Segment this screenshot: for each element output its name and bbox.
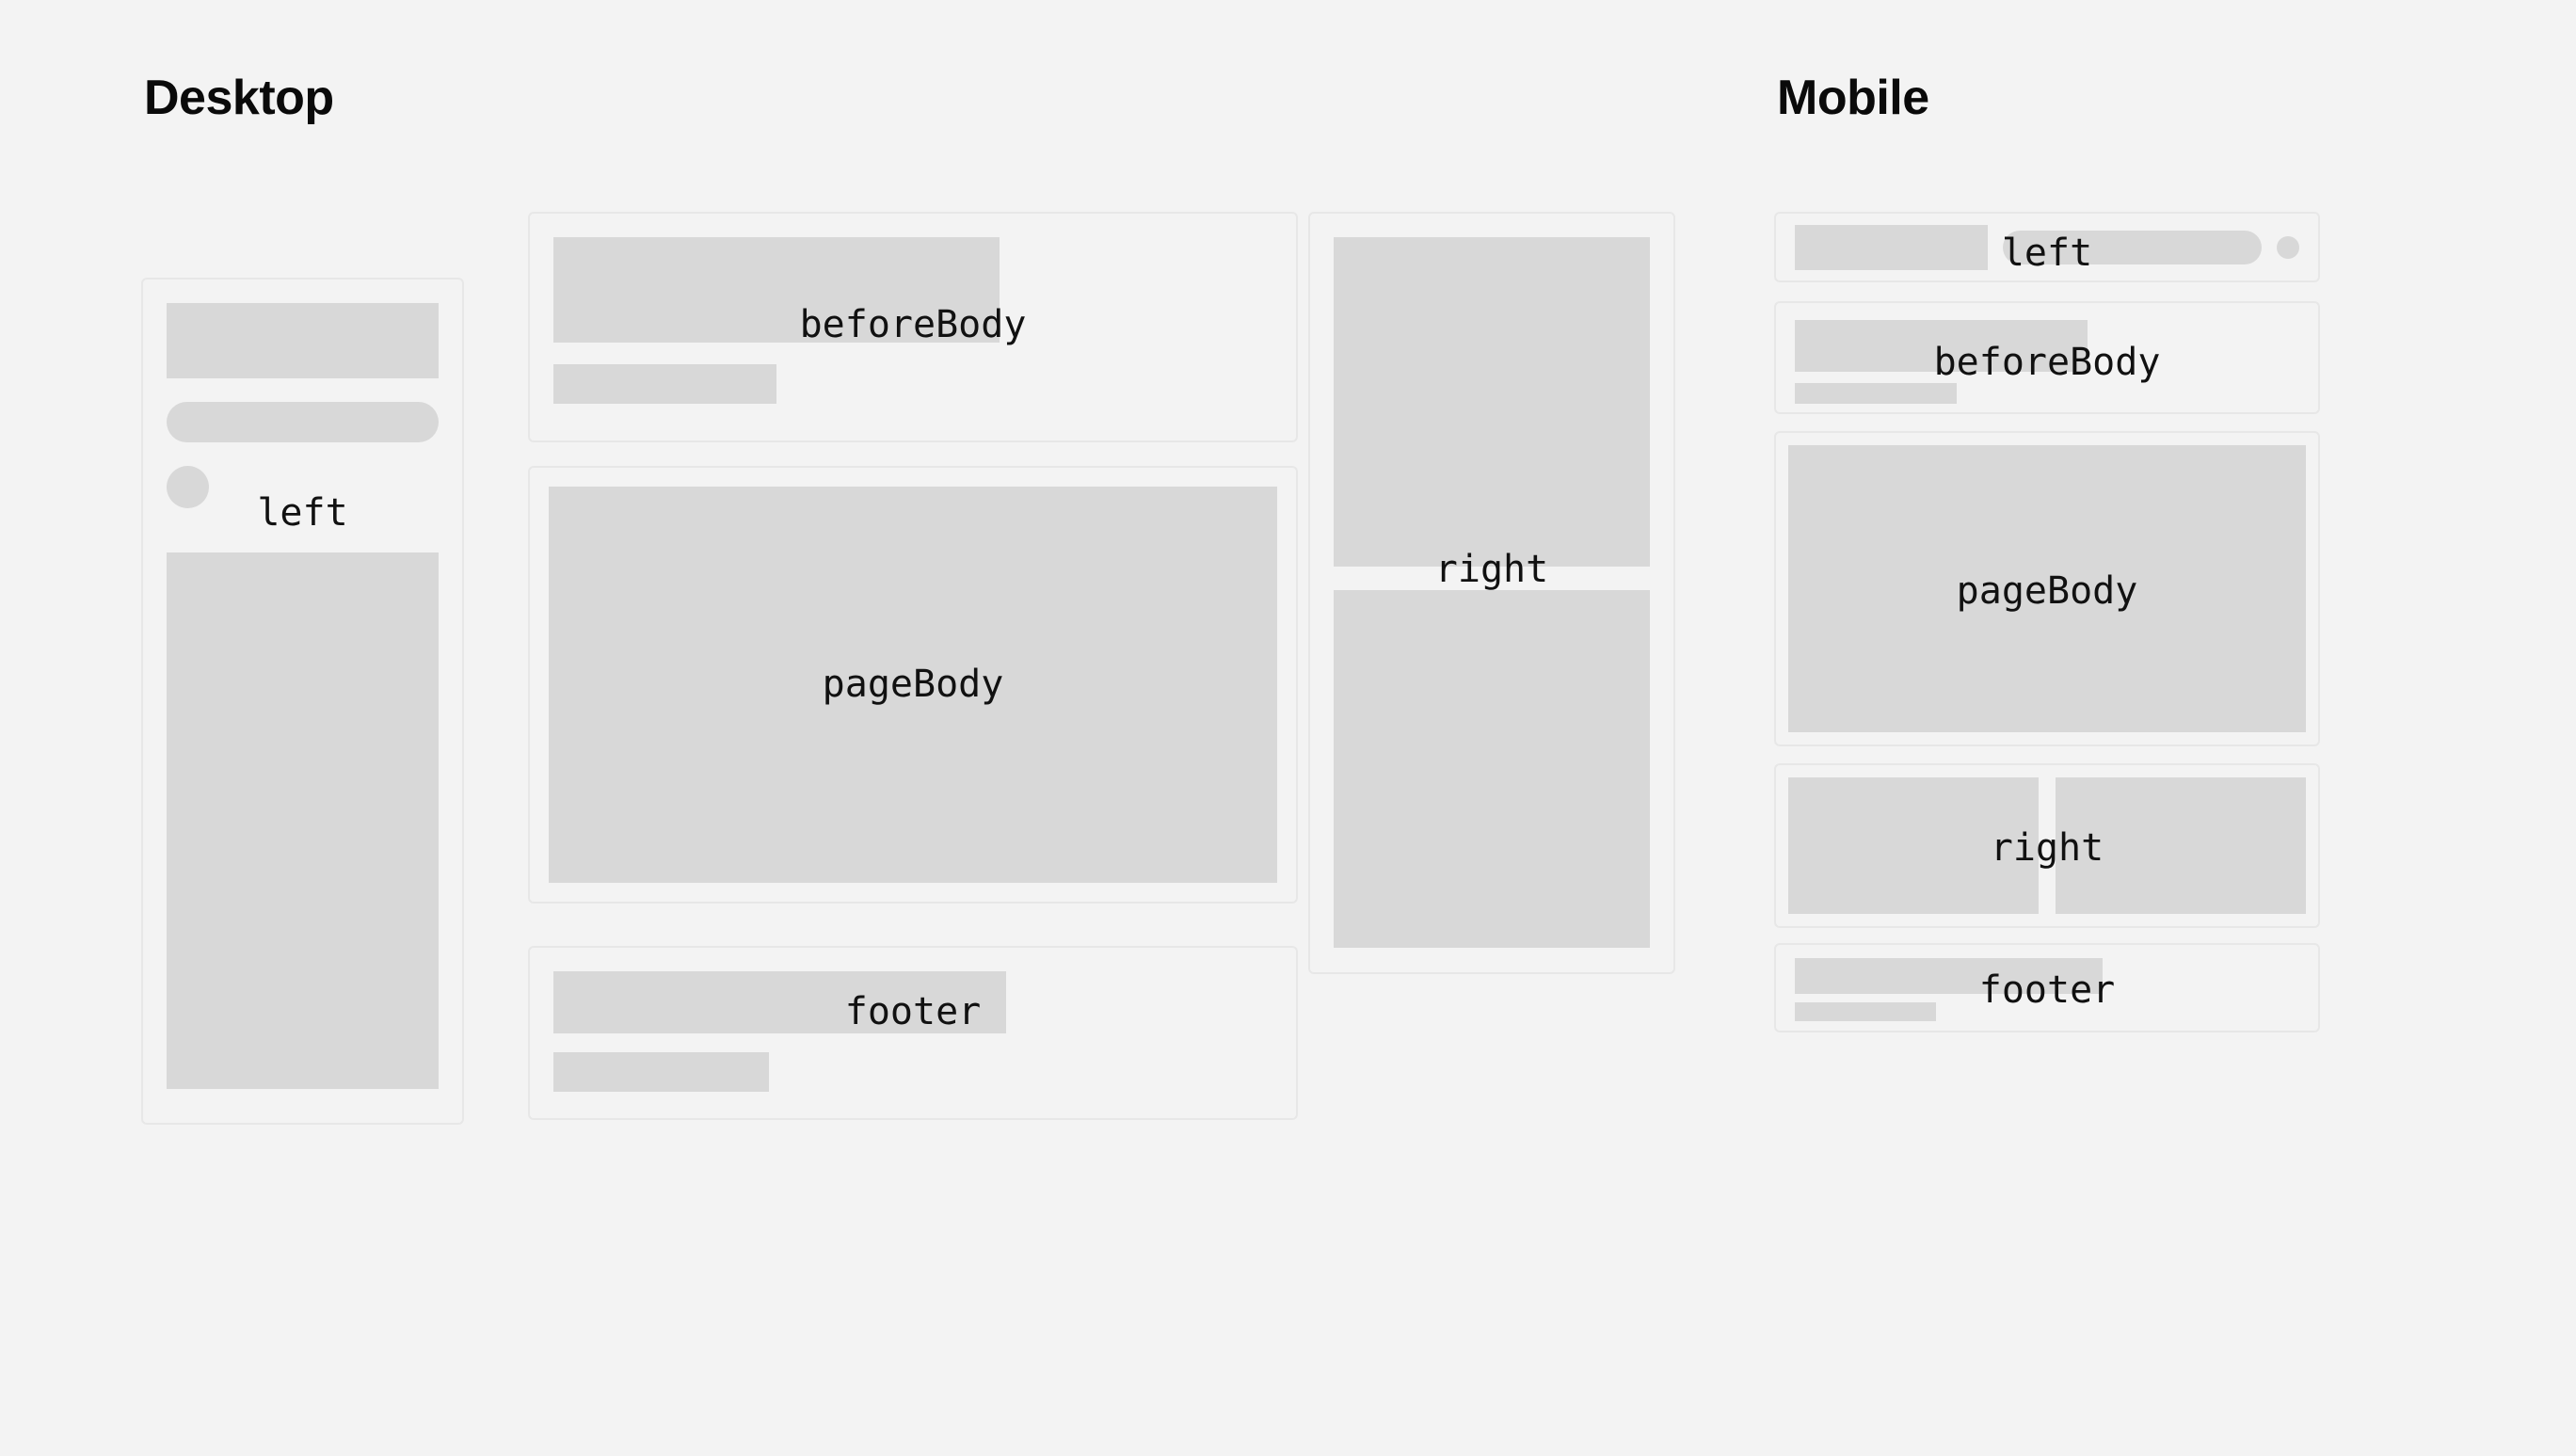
mobile-footer-primary-block (1795, 958, 2103, 994)
mobile-layout-stack: left beforeBody pageBody right footer (1774, 212, 2320, 1032)
wireframe-page: { "page": { "background_color": "#f3f3f3… (0, 0, 2576, 1456)
mobile-region-beforebody[interactable]: beforeBody (1774, 301, 2320, 414)
desktop-footer-secondary-block (553, 1052, 769, 1092)
desktop-region-beforebody[interactable]: beforeBody (528, 212, 1298, 442)
mobile-region-left[interactable]: left (1774, 212, 2320, 282)
mobile-pagebody-fill-block (1788, 445, 2306, 732)
mobile-right-right-block (2056, 777, 2306, 914)
desktop-region-pagebody[interactable]: pageBody (528, 466, 1298, 904)
desktop-beforebody-primary-block (553, 237, 1000, 343)
desktop-left-pill-block (167, 402, 439, 442)
mobile-region-pagebody[interactable]: pageBody (1774, 431, 2320, 746)
mobile-heading: Mobile (1777, 73, 1929, 122)
desktop-layout-grid: left beforeBody pageBody footer r (141, 212, 1675, 1402)
desktop-pagebody-fill-block (549, 487, 1277, 883)
desktop-left-header-block (167, 303, 439, 378)
mobile-preview-section: Mobile left beforeBody pageBody right (1774, 66, 2320, 1402)
mobile-footer-secondary-block (1795, 1002, 1936, 1021)
desktop-preview-section: Desktop left beforeBody pageBody (141, 66, 1675, 1402)
mobile-right-row (1788, 777, 2306, 914)
desktop-right-top-block (1334, 237, 1650, 567)
desktop-center-column: beforeBody pageBody footer (528, 212, 1298, 1120)
desktop-right-bottom-block (1334, 590, 1650, 948)
mobile-right-left-block (1788, 777, 2039, 914)
mobile-region-footer[interactable]: footer (1774, 943, 2320, 1032)
mobile-left-header-block (1795, 225, 1988, 270)
mobile-left-row (1795, 226, 2299, 268)
desktop-footer-primary-block (553, 971, 1006, 1033)
desktop-heading: Desktop (144, 73, 334, 122)
desktop-region-right[interactable]: right (1308, 212, 1675, 974)
desktop-region-left[interactable]: left (141, 278, 464, 1125)
mobile-left-pill-block (2003, 231, 2262, 264)
mobile-region-right[interactable]: right (1774, 763, 2320, 928)
mobile-beforebody-primary-block (1795, 320, 2088, 372)
desktop-beforebody-secondary-block (553, 364, 776, 404)
desktop-region-footer[interactable]: footer (528, 946, 1298, 1120)
mobile-beforebody-secondary-block (1795, 383, 1957, 404)
desktop-left-avatar-dot (167, 466, 209, 508)
mobile-left-avatar-dot (2277, 236, 2299, 259)
desktop-left-content-block (167, 552, 439, 1089)
